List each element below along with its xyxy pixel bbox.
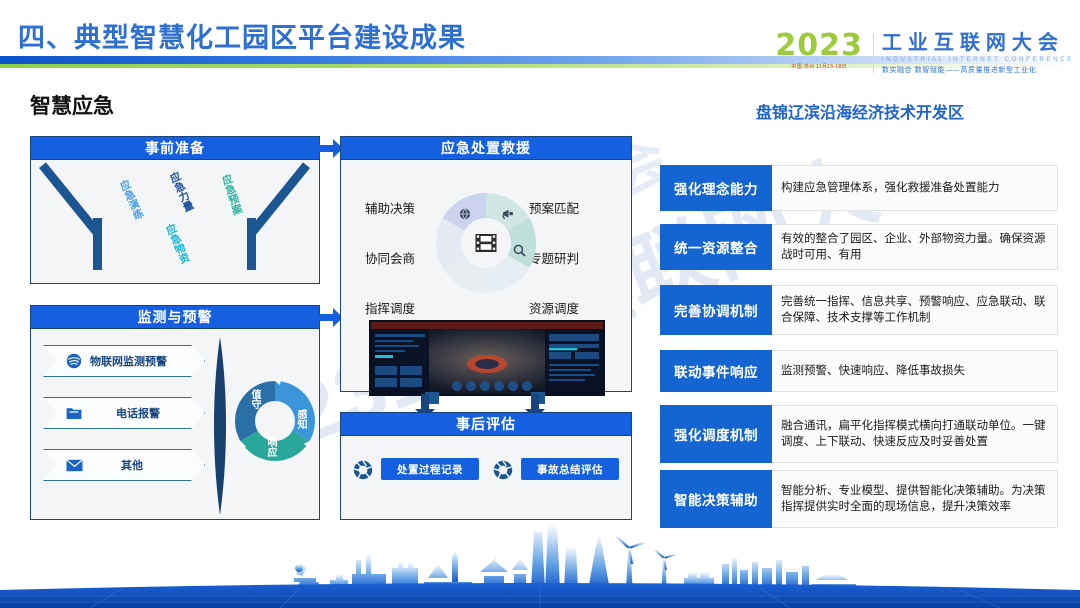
funnel-arm-right-vert	[247, 218, 256, 270]
panel-pre-header: 事前准备	[31, 137, 319, 160]
logo-year: 2023	[775, 32, 863, 60]
panel-monitoring-body: 物联网监测预警 电话报警 其他	[31, 329, 319, 520]
panel-pre-body: 应急演练 应急力量 应急预案 应急物资	[31, 160, 319, 284]
globe-segment-icon	[459, 208, 471, 222]
row-label-4: 强化调度机制	[660, 405, 772, 463]
section-title-smart-emergency: 智慧应急	[30, 90, 114, 120]
channel-item-phone[interactable]: 电话报警	[43, 397, 205, 429]
funnel-arm-right-diag	[249, 162, 310, 234]
slide-root: 四、典型智慧化工园区平台建设成果 2023 中国·苏州 11月15-18日 工业…	[0, 0, 1080, 608]
logo-separator	[873, 34, 874, 73]
table-row: 完善协调机制 完善统一指挥、信息共享、预警响应、应急联动、联合保障、技术支撑等工…	[660, 285, 1058, 335]
panel-review-body: 处置过程记录 事故总结评估	[341, 436, 631, 520]
response-item-collab: 协同会商	[365, 248, 415, 267]
command-center-dashboard	[369, 320, 605, 396]
row-label-0: 强化理念能力	[660, 165, 772, 211]
lens-divider	[209, 337, 231, 515]
megaphone-segment-icon	[501, 208, 514, 222]
panel-review-header: 事后评估	[341, 413, 631, 436]
skyline-graphic	[0, 518, 1080, 608]
search-segment-icon	[513, 244, 526, 259]
funnel-label-force: 应急力量	[154, 171, 195, 220]
funnel-label-drill: 应急演练	[104, 179, 145, 228]
panel-response-body: 辅助决策 预案匹配 协同会商 专题研判 指挥调度 资源调度	[341, 160, 631, 392]
logo-title-en: INDUSTRIAL INTERNET CONFERENCE	[882, 56, 1074, 63]
panel-pre-preparation: 事前准备 应急演练 应急力量 应急预案 应急物资	[30, 136, 320, 284]
row-desc-4: 融合通讯，扁平化指挥模式横向打通联动单位。一键调度、上下联动、快速反应及时妥善处…	[772, 405, 1058, 463]
right-panel-title: 盘锦辽滨沿海经济技术开发区	[660, 99, 1060, 123]
response-item-command: 指挥调度	[365, 298, 415, 317]
film-strip-icon	[475, 233, 497, 253]
network-icon	[66, 353, 82, 369]
channel-label-iot: 物联网监测预警	[90, 353, 167, 369]
funnel-label-plan: 应急预案	[205, 173, 243, 221]
row-label-2: 完善协调机制	[660, 285, 772, 335]
response-center-hole	[463, 220, 509, 266]
funnel-arm-left-diag	[39, 162, 100, 234]
funnel-arm-left-vert	[93, 218, 102, 270]
channel-label-phone: 电话报警	[116, 405, 160, 421]
table-row: 强化调度机制 融合通讯，扁平化指挥模式横向打通联动单位。一键调度、上下联动、快速…	[660, 405, 1058, 463]
panel-monitoring-header: 监测与预警	[31, 306, 319, 329]
response-item-decision: 辅助决策	[365, 198, 415, 217]
review-button-incident-summary[interactable]: 事故总结评估	[521, 458, 619, 480]
table-row: 强化理念能力 构建应急管理体系，强化救援准备处置能力	[660, 165, 1058, 211]
row-desc-3: 监测预警、快速响应、降低事故损失	[772, 350, 1058, 392]
logo-subtitle: 数实融合 数智赋能——高质量推进新型工业化	[882, 65, 1074, 75]
row-desc-2: 完善统一指挥、信息共享、预警响应、应急联动、联合保障、技术支撑等工作机制	[772, 285, 1058, 335]
aperture-icon	[353, 460, 373, 480]
dashboard-widgets	[371, 322, 603, 394]
panel-post-review: 事后评估 处置过程记录	[340, 412, 632, 520]
folder-icon	[66, 406, 82, 420]
conference-logo: 2023 中国·苏州 11月15-18日 工业互联网大会 INDUSTRIAL …	[775, 32, 1074, 75]
logo-title-cn: 工业互联网大会	[882, 32, 1074, 54]
row-label-1: 统一资源整合	[660, 224, 772, 270]
aperture-icon-2	[493, 460, 513, 480]
cycle-label-respond: 响应	[263, 437, 278, 457]
cycle-label-standby: 值守	[247, 389, 262, 409]
logo-year-block: 2023 中国·苏州 11月15-18日	[775, 32, 873, 70]
funnel-label-supplies: 应急物资	[150, 223, 191, 272]
row-desc-1: 有效的整合了园区、企业、外部物资力量。确保资源战时可用、有用	[772, 224, 1058, 270]
mail-icon	[66, 459, 83, 472]
cycle-label-sense: 感知	[293, 409, 308, 429]
page-title: 四、典型智慧化工园区平台建设成果	[18, 16, 466, 55]
logo-date: 中国·苏州 11月15-18日	[775, 63, 863, 70]
row-desc-0: 构建应急管理体系，强化救援准备处置能力	[772, 165, 1058, 211]
row-label-3: 联动事件响应	[660, 350, 772, 392]
panel-monitoring-warning: 监测与预警 物联网监测预警	[30, 305, 320, 520]
channel-label-other: 其他	[121, 457, 143, 473]
footer-skyline	[0, 518, 1080, 608]
channel-item-other[interactable]: 其他	[43, 449, 205, 481]
table-row: 统一资源整合 有效的整合了园区、企业、外部物资力量。确保资源战时可用、有用	[660, 224, 1058, 270]
table-row: 联动事件响应 监测预警、快速响应、降低事故损失	[660, 350, 1058, 392]
panel-emergency-response: 应急处置救援 辅助决策 预案匹配 协同会商 专题研判 指挥调度 资源调度	[340, 136, 632, 392]
review-button-process-record[interactable]: 处置过程记录	[381, 458, 479, 480]
funnel-graphic: 应急演练 应急力量 应急预案 应急物资	[31, 160, 319, 284]
panel-response-header: 应急处置救援	[341, 137, 631, 160]
response-item-resource: 资源调度	[529, 298, 579, 317]
channel-item-iot[interactable]: 物联网监测预警	[43, 345, 205, 377]
logo-text-block: 工业互联网大会 INDUSTRIAL INTERNET CONFERENCE 数…	[882, 32, 1074, 75]
